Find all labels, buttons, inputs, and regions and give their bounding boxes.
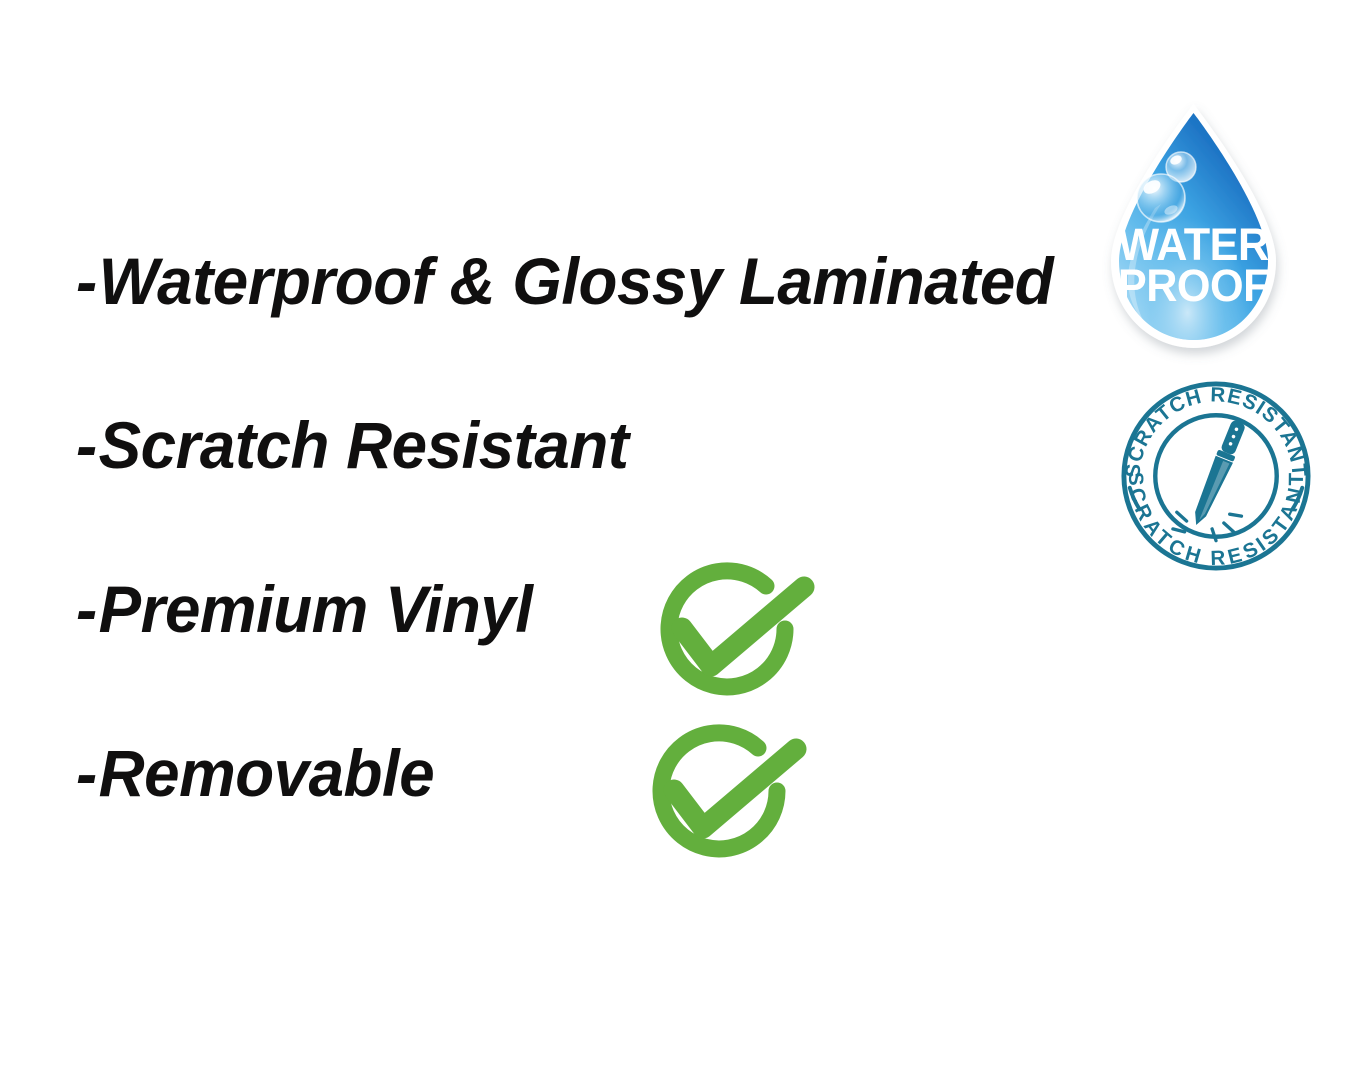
circle-check-icon: [638, 553, 828, 723]
knife-stamp-icon: SCRATCH RESISTANT SCRATCH RESISTANT: [1118, 380, 1314, 572]
checkmark-premium-vinyl: [638, 553, 828, 723]
feature-bullet-dash: -: [76, 576, 97, 642]
bubble-large-icon: [1137, 174, 1185, 222]
checkmark-removable: [630, 715, 820, 885]
feature-item-scratch-resistant: -Scratch Resistant: [76, 412, 1060, 484]
feature-item-premium-vinyl: -Premium Vinyl: [76, 576, 1060, 648]
knife-icon: [1189, 419, 1248, 530]
scratch-resistant-badge: SCRATCH RESISTANT SCRATCH RESISTANT: [1118, 380, 1314, 572]
drop-shape: [1111, 104, 1276, 348]
feature-bullet-dash: -: [76, 412, 97, 478]
water-drop-icon: [1095, 98, 1310, 370]
feature-graphic-canvas: -Waterproof & Glossy Laminated -Scratch …: [0, 0, 1359, 1080]
feature-label: Waterproof & Glossy Laminated: [99, 244, 1054, 318]
feature-label: Removable: [99, 736, 434, 810]
feature-label: Premium Vinyl: [99, 572, 533, 646]
feature-bullet-dash: -: [76, 740, 97, 806]
feature-item-waterproof: -Waterproof & Glossy Laminated: [76, 248, 1060, 320]
feature-item-removable: -Removable: [76, 740, 1060, 812]
circle-check-icon: [630, 715, 820, 885]
feature-bullet-dash: -: [76, 248, 97, 314]
feature-list: -Waterproof & Glossy Laminated -Scratch …: [76, 248, 1096, 812]
feature-label: Scratch Resistant: [99, 408, 629, 482]
waterproof-badge: WATER PROOF: [1095, 98, 1310, 370]
